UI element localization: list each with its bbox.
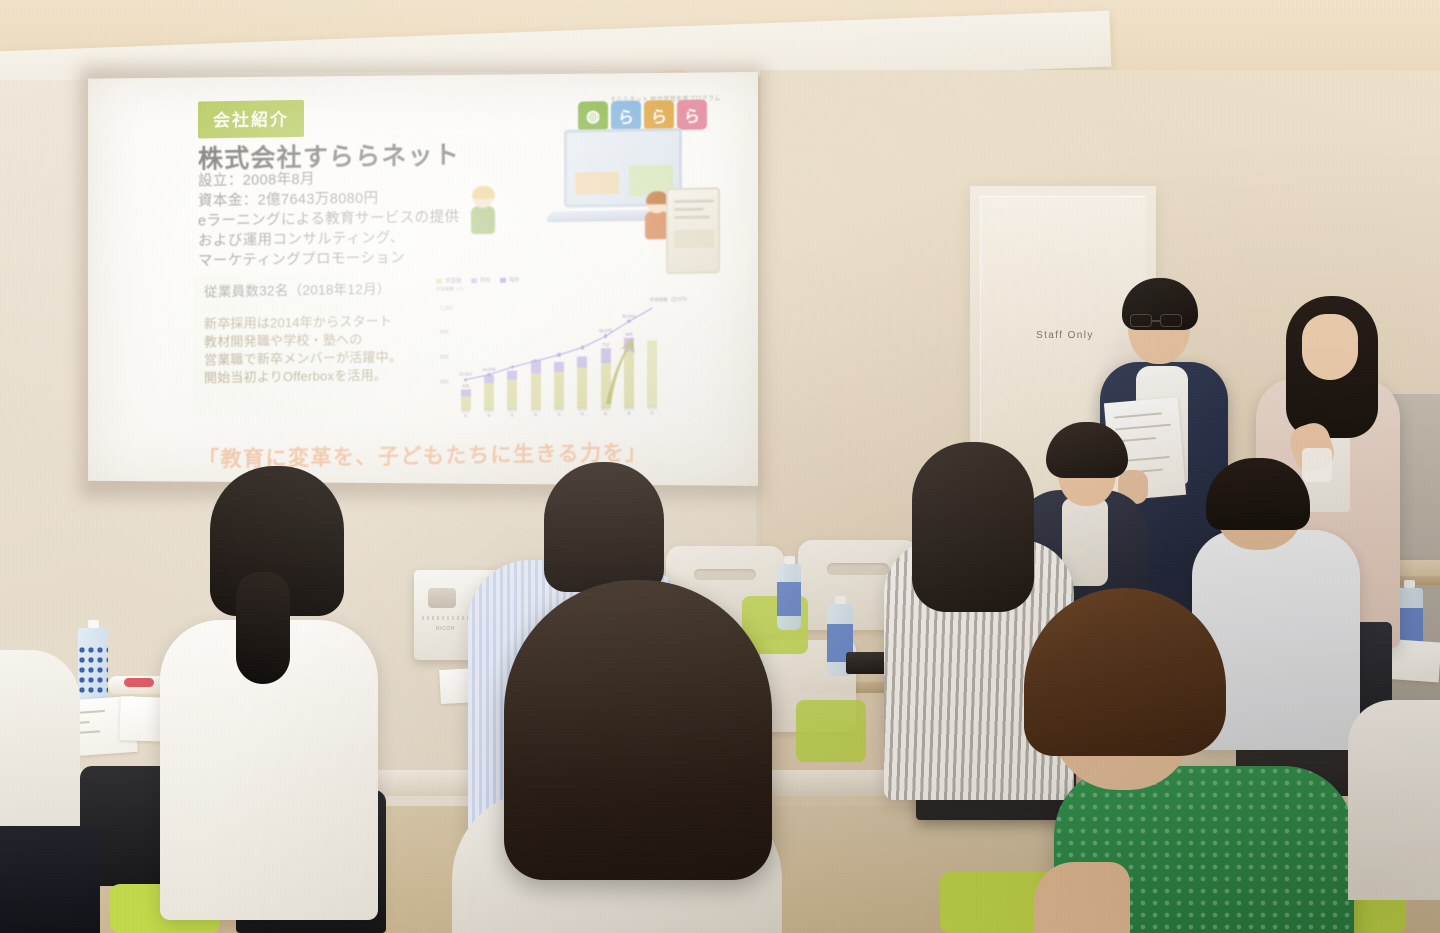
water-bottle-1[interactable]	[777, 556, 801, 630]
chart-line-value: 24,835	[482, 367, 495, 372]
logo-surala-pink: ら	[677, 100, 707, 130]
logo-surala-mark: ◍	[578, 101, 608, 131]
tablet-illustration	[666, 187, 720, 274]
attendee-far-left-torso	[0, 650, 80, 850]
attendee-ponytail-tail	[236, 572, 290, 684]
legend-swatch	[471, 278, 477, 283]
chair-green-2[interactable]	[796, 700, 866, 762]
company-details: 設立：2008年8月 資本金：2億7643万8080円 eラーニングによる教育サ…	[198, 167, 459, 271]
recruit-line-1: 新卒採用は2014年からスタート	[204, 312, 402, 333]
growth-chart: 学習塾学校海外 学習者数（人） 市場規模（百万円） 3006009001,200…	[434, 273, 690, 425]
attendee-far-right-torso	[1348, 700, 1440, 900]
logo-strip: ◍ ら ら ら	[578, 100, 707, 132]
chart-y-tick: 1,200	[440, 305, 453, 311]
photo-scene: Staff Only 会社紹介 株式会社すららネット 設立：2008年8月 資本…	[0, 0, 1440, 933]
character-illustration-left	[466, 189, 500, 246]
chart-y-tick: 300	[440, 380, 448, 386]
projector-lens-icon	[428, 588, 456, 608]
employees-heading: 従業員数32名（2018年12月）	[204, 277, 391, 300]
chart-plot-area: 3006009001,2002011年2362012年2013年2014年201…	[454, 299, 664, 410]
chart-y-axis-label: 学習者数（人）	[436, 286, 468, 292]
logo-surala-orange: ら	[644, 100, 674, 130]
legend-swatch	[436, 278, 442, 283]
chart-legend-item: 学習塾	[436, 276, 462, 284]
chart-legend-item: 海外	[500, 275, 520, 283]
projection-screen: 会社紹介 株式会社すららネット 設立：2008年8月 資本金：2億7643万80…	[86, 72, 758, 490]
business-line-3: マーケティングプロモーション	[198, 247, 459, 271]
attendee-center-hair	[504, 580, 772, 880]
attendee-far-left-lap	[0, 826, 100, 933]
presenter-female-face	[1302, 314, 1358, 380]
chart-line-value: 50,675	[599, 328, 612, 333]
chart-line-point	[557, 353, 560, 356]
water-bottle-dotted[interactable]	[78, 620, 108, 708]
slide-content: 会社紹介 株式会社すららネット 設立：2008年8月 資本金：2億7643万80…	[86, 67, 758, 496]
chart-line-point	[581, 346, 584, 349]
attendee-green-lace-arm	[1034, 862, 1130, 933]
chart-line-value: 21,512	[459, 372, 472, 377]
logo-surala-blue: ら	[611, 101, 641, 131]
chart-y-tick: 600	[440, 355, 448, 361]
slide-section-badge: 会社紹介	[198, 100, 304, 139]
presenter-name-card	[1302, 448, 1332, 482]
projector-brand-label: RICOH	[436, 626, 455, 632]
chart-line-value: 60,810	[622, 313, 635, 318]
chart-growth-arrow-icon	[602, 336, 642, 407]
chart-y-tick: 900	[440, 330, 448, 336]
attendee-blue-shirt-hair	[544, 462, 664, 592]
attendee-striped-hair	[912, 442, 1034, 612]
chart-legend-item: 学校	[471, 276, 491, 284]
recruit-line-4: 開始当初よりOfferboxを活用。	[204, 366, 402, 387]
recruiting-text: 新卒採用は2014年からスタート 教材開発職や学校・塾への 営業職で新卒メンバー…	[204, 312, 402, 387]
chart-legend: 学習塾学校海外	[436, 275, 520, 284]
glasses-icon	[1130, 314, 1184, 327]
business-line-1: eラーニングによる教育サービスの提供	[198, 207, 459, 231]
plate-food	[124, 678, 154, 687]
